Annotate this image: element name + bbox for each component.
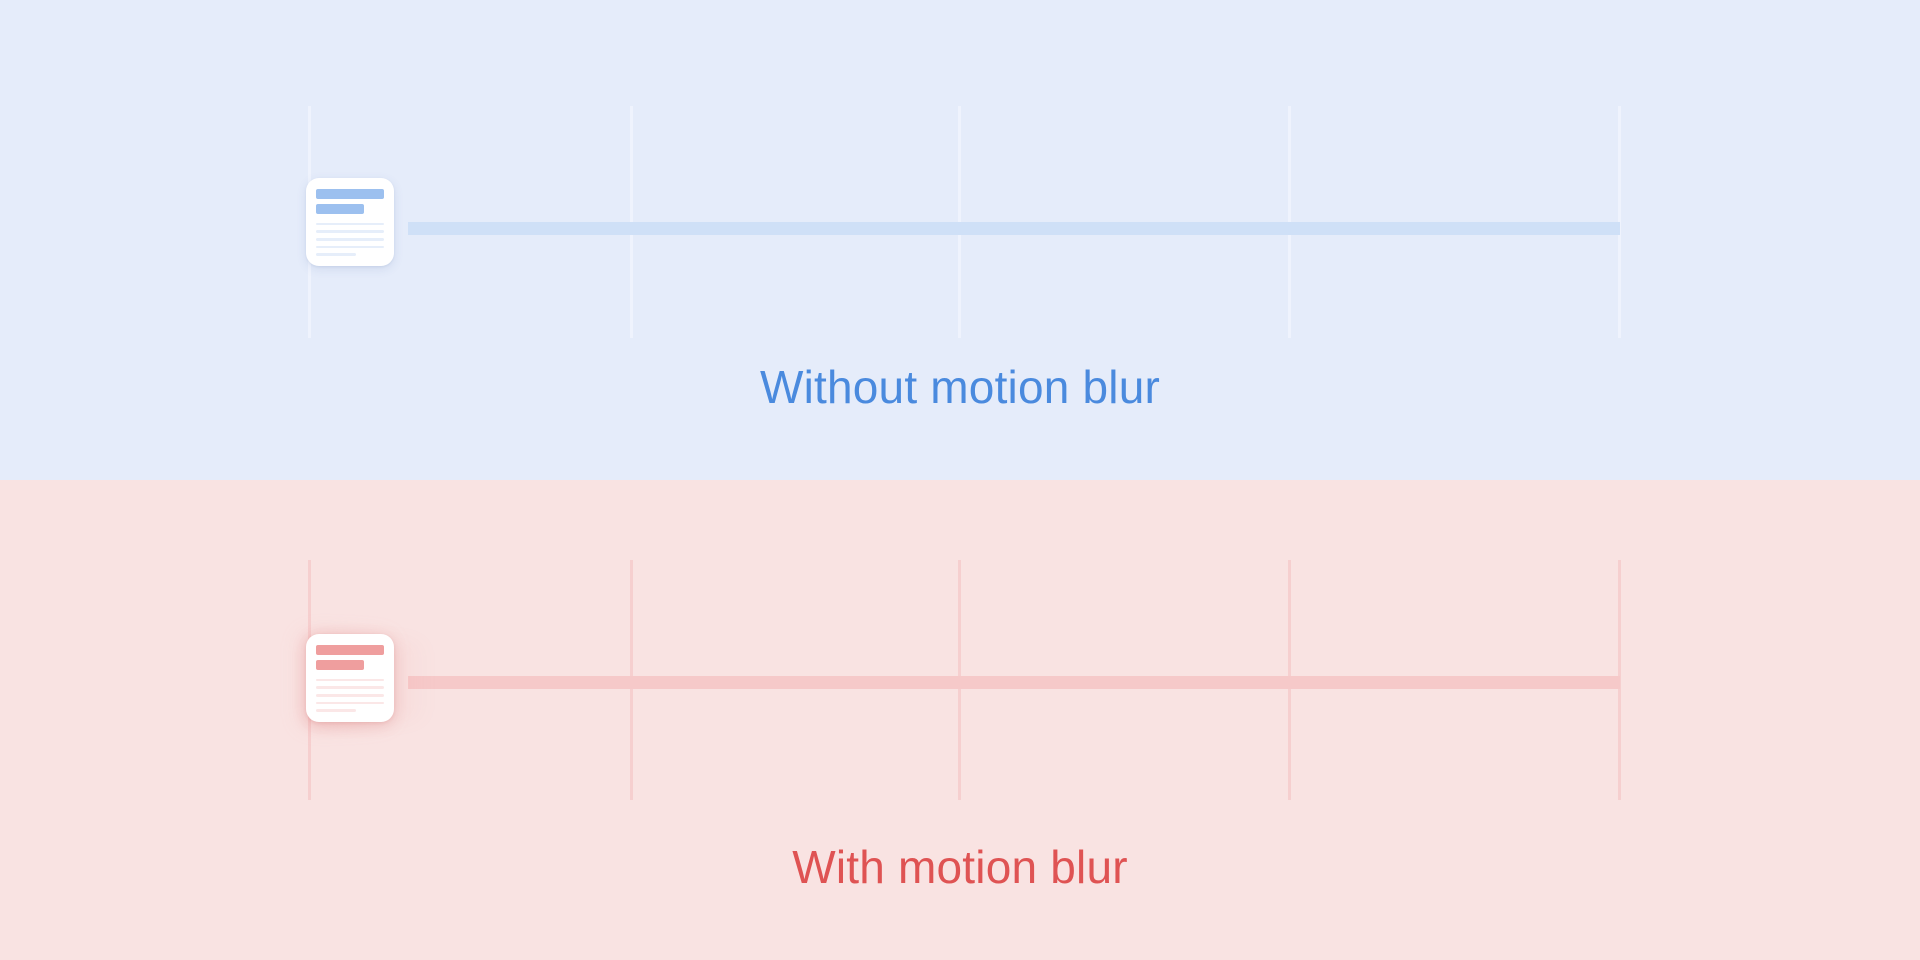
card-text-line: [316, 238, 384, 241]
motion-trail-line: [408, 222, 1620, 235]
caption-without-motion-blur: Without motion blur: [0, 360, 1920, 414]
sliding-card-without-blur[interactable]: [306, 178, 394, 266]
panel-with-motion-blur: With motion blur: [0, 480, 1920, 960]
card-text-line: [316, 686, 384, 689]
card-text-line-short: [316, 709, 356, 712]
card-text-line: [316, 702, 384, 705]
panel-without-motion-blur: Without motion blur: [0, 0, 1920, 480]
card-title-bar: [316, 189, 384, 199]
card-title-bar: [316, 645, 384, 655]
card-text-line: [316, 230, 384, 233]
card-text-line-short: [316, 253, 356, 256]
card-text-line: [316, 246, 384, 249]
motion-trail-line: [408, 676, 1620, 689]
card-text-line: [316, 223, 384, 226]
caption-with-motion-blur: With motion blur: [0, 840, 1920, 894]
card-text-line: [316, 679, 384, 682]
card-subtitle-bar: [316, 660, 364, 670]
card-text-line: [316, 694, 384, 697]
motion-blur-comparison: Without motion blur With motion blur: [0, 0, 1920, 960]
card-subtitle-bar: [316, 204, 364, 214]
sliding-card-with-blur[interactable]: [306, 634, 394, 722]
